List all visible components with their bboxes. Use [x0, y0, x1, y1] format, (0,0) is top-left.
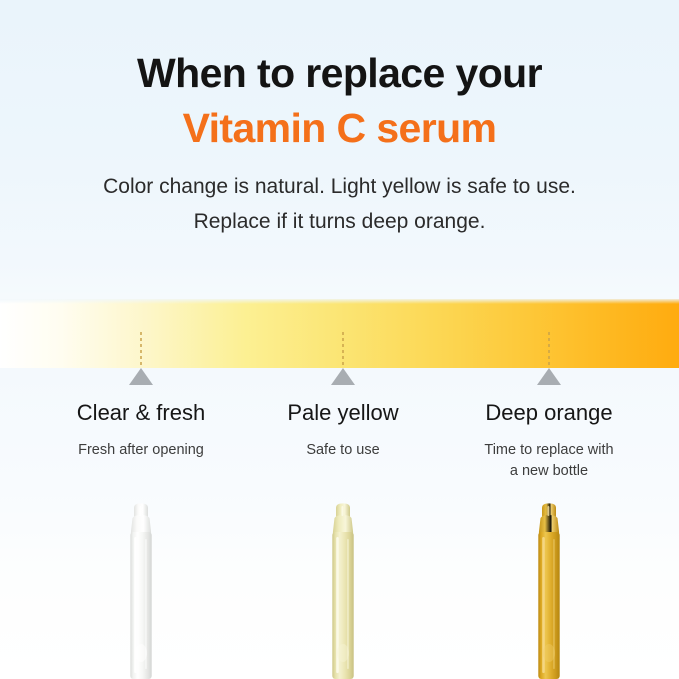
- gradient-bar-top-fade: [0, 299, 679, 304]
- stage-caption-pale: Safe to use: [228, 440, 458, 461]
- infographic-root: When to replace your Vitamin C serum Col…: [0, 0, 679, 679]
- subtitle-line-1: Color change is natural. Light yellow is…: [0, 169, 679, 204]
- stage-label-pale: Pale yellow: [228, 400, 458, 426]
- stage-caption-deep: Time to replace with a new bottle: [434, 440, 664, 482]
- marker-triangle-icon-deep: [537, 368, 561, 385]
- stage-caption-deep-line-1: Time to replace with: [484, 442, 613, 458]
- ampoule-clear-image: [120, 503, 162, 679]
- stage-caption-clear: Fresh after opening: [26, 440, 256, 461]
- stages-section: Clear & fresh Fresh after opening: [0, 368, 679, 679]
- marker-triangle-icon-clear: [129, 368, 153, 385]
- marker-triangle-icon-pale: [331, 368, 355, 385]
- color-gradient-bar: [0, 299, 679, 368]
- page-title-line-1: When to replace your: [0, 46, 679, 101]
- page-subtitle: Color change is natural. Light yellow is…: [0, 169, 679, 239]
- subtitle-line-2: Replace if it turns deep orange.: [0, 204, 679, 239]
- stage-label-clear: Clear & fresh: [26, 400, 256, 426]
- stage-label-deep: Deep orange: [434, 400, 664, 426]
- header-section: When to replace your Vitamin C serum Col…: [0, 0, 679, 299]
- ampoule-pale-yellow-image: [322, 503, 364, 679]
- page-title-line-2: Vitamin C serum: [0, 101, 679, 156]
- ampoule-deep-orange-image: [528, 503, 570, 679]
- stage-caption-deep-line-2: a new bottle: [510, 463, 588, 479]
